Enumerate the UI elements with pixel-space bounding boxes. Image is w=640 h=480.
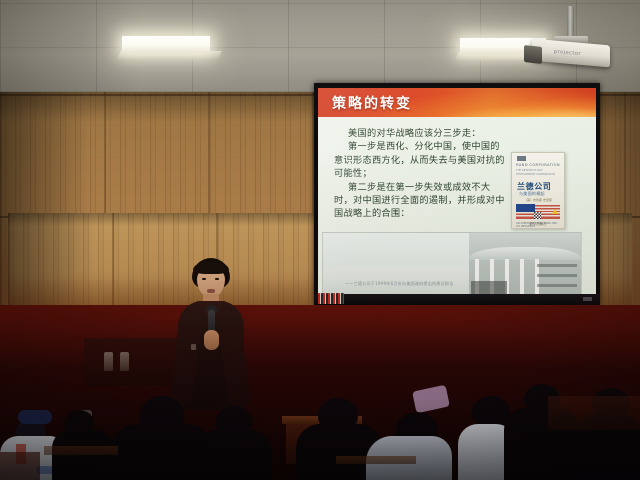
us-flag-canton [516,204,535,212]
photo-building [469,233,581,294]
slide-photo-inset: ——兰德公司于1999年6月份向美国政府提出的建议报告 [322,232,582,294]
lecture-hall-photo: projector 策略的转变 美国的对华战略应该分三步走： 第一步是西化、分化… [0,0,640,480]
book-publisher: 新华出版社 [512,221,564,226]
projected-slide: 策略的转变 美国的对华战略应该分三步走： 第一步是西化、分化中国，使中国的意识形… [318,88,596,294]
ceiling-light-panel-left [122,36,210,53]
book-chinese-subtitle: 与美国的崛起 [519,191,545,197]
book-english-title: RAND CORPORATION [516,163,560,167]
gold-star-icon [552,209,558,214]
book-author-line: ［美］布鲁斯·史密斯 [524,198,552,202]
building-shadow-block [471,281,507,294]
presenter-hair-fringe [193,261,229,274]
lamp-tube [122,36,210,53]
slide-body: 美国的对华战略应该分三步走： 第一步是西化、分化中国，使中国的意识形态西方化，从… [318,117,596,294]
book-logo-mark [517,156,526,161]
slide-photo-caption: ——兰德公司于1999年6月份向美国政府提出的建议报告 [345,281,453,287]
slide-band-gold-swoosh [435,88,596,117]
screen-edge-marker [583,297,592,301]
presenter-mouth [207,289,215,293]
screen-bottom-bar [314,294,600,305]
slide-title: 策略的转变 [332,93,412,113]
projector-lens [524,45,542,64]
screen-compression-artifact [318,293,344,304]
mouse-cursor-artifact [534,212,541,219]
building-windows [537,263,577,294]
slide-paragraph-3: 第二步是在第一步失效或成效不大时，对中国进行全面的遏制，并形成对中国战略上的合围… [334,181,506,221]
presenter-eye-right [215,278,219,280]
ceiling-projector: projector [524,6,610,70]
slide-paragraph-1: 美国的对华战略应该分三步走： [334,127,506,140]
audience-vignette [0,305,640,480]
presenter-eye-left [202,278,206,280]
book-english-subtitle: THE RESEARCH AND DEVELOPMENT CORPORATION [516,169,560,176]
slide-paragraph-2: 第一步是西化、分化中国，使中国的意识形态西方化，从而失去与美国对抗的可能性； [334,140,506,180]
slide-body-text: 美国的对华战略应该分三步走： 第一步是西化、分化中国，使中国的意识形态西方化，从… [334,127,506,221]
